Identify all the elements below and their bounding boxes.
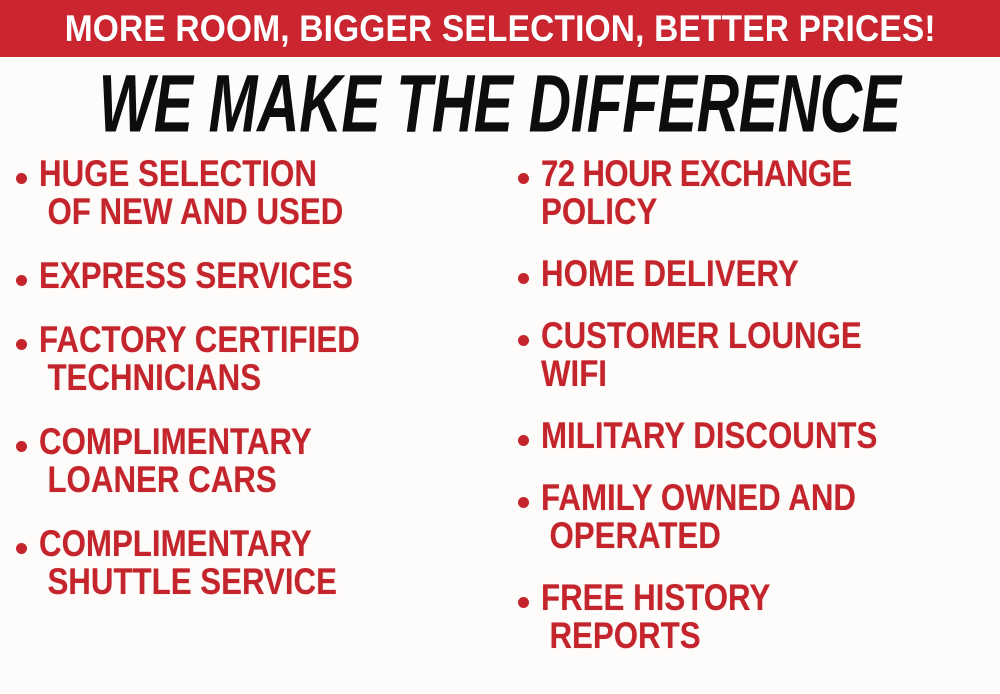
list-item-text: FREE HISTORY REPORTS [541, 579, 1000, 655]
list-item: HUGE SELECTION OF NEW AND USED [16, 155, 516, 231]
list-item: EXPRESS SERVICES [16, 257, 516, 295]
list-item-line: HOME DELIVERY [541, 255, 929, 293]
list-item-line: COMPLIMENTARY [39, 423, 442, 461]
bullet-dot-icon [518, 497, 529, 508]
bullet-dot-icon [16, 543, 27, 554]
list-item-line: FAMILY OWNED AND [541, 479, 929, 517]
list-item-line: SHUTTLE SERVICE [39, 563, 442, 601]
list-item-text: COMPLIMENTARY LOANER CARS [39, 423, 516, 499]
list-item-text: FAMILY OWNED AND OPERATED [541, 479, 1000, 555]
bullet-dot-icon [518, 597, 529, 608]
list-item-line: WIFI [541, 355, 929, 393]
benefits-column-left: HUGE SELECTION OF NEW AND USED EXPRESS S… [16, 155, 516, 627]
headline-container: WE MAKE THE DIFFERENCE [0, 68, 1000, 140]
list-item-line: REPORTS [541, 617, 929, 655]
list-item: CUSTOMER LOUNGE WIFI [518, 317, 1000, 393]
list-item-line: POLICY [541, 193, 929, 231]
list-item-line: OPERATED [541, 517, 929, 555]
list-item: COMPLIMENTARY LOANER CARS [16, 423, 516, 499]
promo-poster: MORE ROOM, BIGGER SELECTION, BETTER PRIC… [0, 0, 1000, 694]
list-item-line: LOANER CARS [39, 461, 442, 499]
list-item-text: 72 HOUR EXCHANGE POLICY [541, 155, 1000, 231]
bullet-dot-icon [518, 173, 529, 184]
list-item: FREE HISTORY REPORTS [518, 579, 1000, 655]
banner-headline-text: MORE ROOM, BIGGER SELECTION, BETTER PRIC… [64, 10, 935, 47]
list-item: 72 HOUR EXCHANGE POLICY [518, 155, 1000, 231]
list-item: HOME DELIVERY [518, 255, 1000, 293]
list-item-line: HUGE SELECTION [39, 155, 442, 193]
list-item-text: CUSTOMER LOUNGE WIFI [541, 317, 1000, 393]
list-item: MILITARY DISCOUNTS [518, 417, 1000, 455]
list-item-text: MILITARY DISCOUNTS [541, 417, 1000, 455]
list-item-line: MILITARY DISCOUNTS [541, 417, 929, 455]
list-item-line: OF NEW AND USED [39, 193, 442, 231]
list-item-line: FACTORY CERTIFIED [39, 321, 442, 359]
bullet-dot-icon [16, 441, 27, 452]
list-item-text: HUGE SELECTION OF NEW AND USED [39, 155, 516, 231]
list-item: COMPLIMENTARY SHUTTLE SERVICE [16, 525, 516, 601]
bullet-dot-icon [518, 335, 529, 346]
list-item-line: TECHNICIANS [39, 359, 442, 397]
benefits-column-right: 72 HOUR EXCHANGE POLICY HOME DELIVERY CU… [518, 155, 1000, 679]
bullet-dot-icon [16, 339, 27, 350]
list-item-line: EXPRESS SERVICES [39, 257, 442, 295]
bullet-dot-icon [518, 435, 529, 446]
list-item-line: CUSTOMER LOUNGE [541, 317, 929, 355]
list-item: FAMILY OWNED AND OPERATED [518, 479, 1000, 555]
list-item-text: EXPRESS SERVICES [39, 257, 516, 295]
list-item-line: FREE HISTORY [541, 579, 929, 617]
list-item-text: FACTORY CERTIFIED TECHNICIANS [39, 321, 516, 397]
bullet-dot-icon [16, 173, 27, 184]
top-banner: MORE ROOM, BIGGER SELECTION, BETTER PRIC… [0, 0, 1000, 57]
page-title: WE MAKE THE DIFFERENCE [99, 63, 901, 145]
list-item-text: HOME DELIVERY [541, 255, 1000, 293]
list-item-line: COMPLIMENTARY [39, 525, 442, 563]
list-item-line: 72 HOUR EXCHANGE [541, 155, 929, 193]
benefits-columns: HUGE SELECTION OF NEW AND USED EXPRESS S… [0, 155, 1000, 694]
list-item: FACTORY CERTIFIED TECHNICIANS [16, 321, 516, 397]
bullet-dot-icon [16, 275, 27, 286]
list-item-text: COMPLIMENTARY SHUTTLE SERVICE [39, 525, 516, 601]
bullet-dot-icon [518, 273, 529, 284]
